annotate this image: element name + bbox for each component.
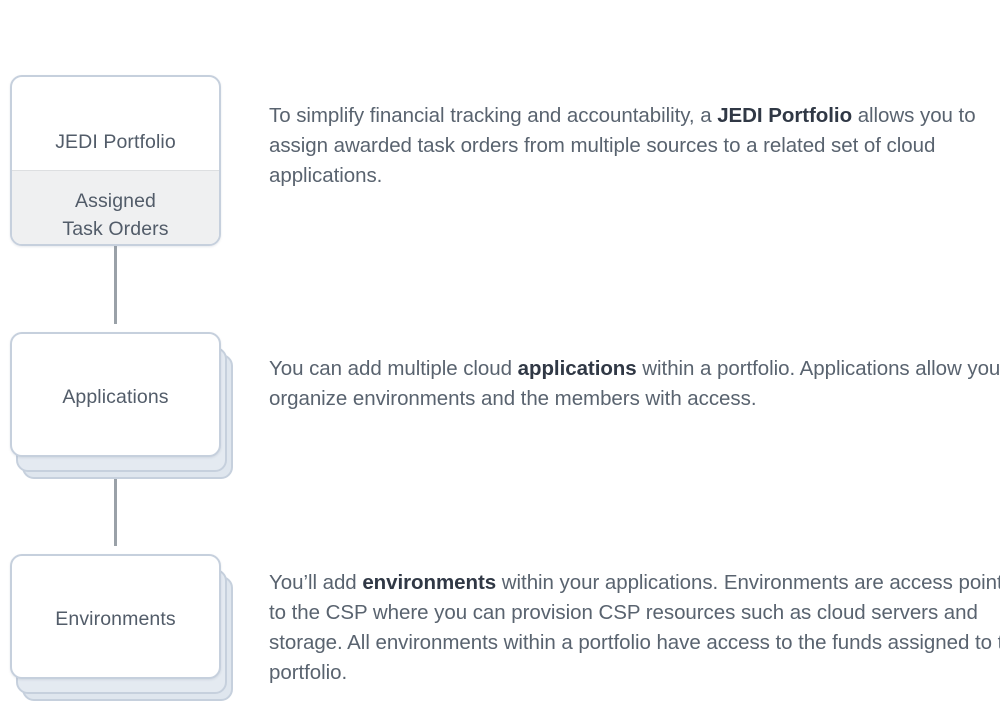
portfolio-card-label: JEDI Portfolio [12,129,219,155]
applications-description-part1: You can add multiple cloud [269,357,518,380]
portfolio-assigned-task-orders-panel: Assigned Task Orders [12,170,219,244]
portfolio-description: To simplify financial tracking and accou… [269,101,1000,191]
environments-description: You’ll add environments within your appl… [269,568,1000,688]
environments-card-front-layer[interactable]: Environments [10,554,221,679]
environments-description-emphasis: environments [362,571,496,594]
connector-applications-to-environments [114,468,117,546]
applications-card-front-layer[interactable]: Applications [10,332,221,457]
environments-description-part1: You’ll add [269,571,362,594]
connector-portfolio-to-applications [114,246,117,324]
portfolio-description-part1: To simplify financial tracking and accou… [269,104,717,127]
portfolio-card[interactable]: JEDI Portfolio Assigned Task Orders [10,75,221,246]
assigned-task-orders-line2: Task Orders [62,218,168,240]
portfolio-description-emphasis: JEDI Portfolio [717,104,852,127]
environments-card-label: Environments [12,606,219,632]
portfolio-hierarchy-diagram: JEDI Portfolio Assigned Task Orders Appl… [0,0,1000,707]
assigned-task-orders-line1: Assigned [75,190,156,212]
applications-description-emphasis: applications [518,357,637,380]
assigned-task-orders-label: Assigned Task Orders [12,171,219,243]
environments-card-stack[interactable]: Environments [0,546,250,696]
applications-description: You can add multiple cloud applications … [269,354,1000,414]
applications-card-stack[interactable]: Applications [0,324,250,474]
applications-card-label: Applications [12,384,219,410]
